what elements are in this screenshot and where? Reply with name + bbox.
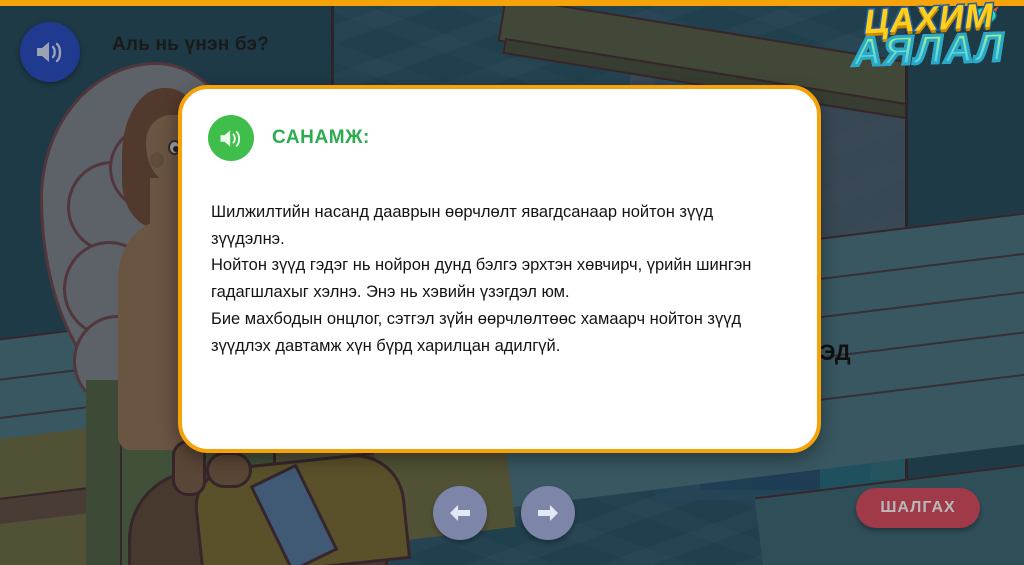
hint-paragraph: Бие махбодын онцлог, сэтгэл зүйн өөрчлөл… xyxy=(211,306,787,359)
hint-paragraph: Нойтон зүүд гэдэг нь нойрон дунд бэлгэ э… xyxy=(211,252,787,305)
page-title: Аль нь үнэн бэ? xyxy=(112,34,269,56)
hint-dialog-body: Шилжилтийн насанд дааврын өөрчлөлт явагд… xyxy=(182,161,817,359)
app-root: Аль нь үнэн бэ? ЦАХИМ АЯЛАЛ ЗҮҮД ІН ЗҮҮД… xyxy=(0,0,1024,565)
hint-dialog-title: САНАМЖ: xyxy=(272,127,370,149)
logo-text-bottom: АЯЛАЛ xyxy=(843,27,1014,73)
check-button[interactable]: ШАЛГАХ xyxy=(856,488,980,528)
app-logo: ЦАХИМ АЯЛАЛ xyxy=(844,2,1014,90)
speaker-icon[interactable] xyxy=(208,115,254,161)
arrow-right-icon[interactable] xyxy=(521,486,575,540)
arrow-left-icon[interactable] xyxy=(433,486,487,540)
hint-dialog: САНАМЖ: Шилжилтийн насанд дааврын өөрчлө… xyxy=(178,85,821,453)
hint-paragraph: Шилжилтийн насанд дааврын өөрчлөлт явагд… xyxy=(211,199,787,252)
speaker-icon[interactable] xyxy=(20,22,80,82)
hint-dialog-header: САНАМЖ: xyxy=(182,89,817,161)
